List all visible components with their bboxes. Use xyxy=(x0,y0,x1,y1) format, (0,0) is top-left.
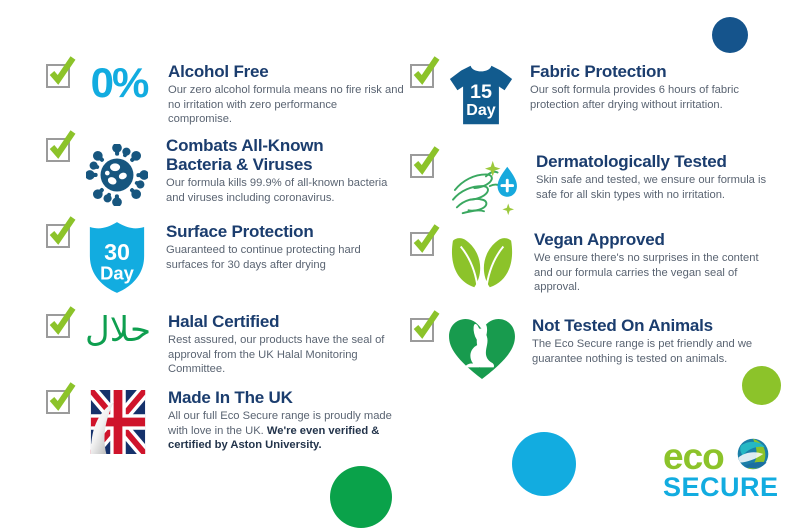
heart-rabbit-icon xyxy=(446,316,518,382)
feature-text: Combats All-Known Bacteria & Viruses Our… xyxy=(166,136,398,205)
feature-item-combats-bacteria-viruses: Combats All-Known Bacteria & Viruses Our… xyxy=(46,136,398,208)
checkbox-checked-icon[interactable] xyxy=(46,314,70,338)
feature-item-vegan-approved: Vegan Approved We ensure there's no surp… xyxy=(410,230,780,296)
uk-flag-icon xyxy=(82,388,154,456)
feature-description: Rest assured, our products have the seal… xyxy=(168,333,386,377)
svg-text:30: 30 xyxy=(104,239,130,265)
feature-title: Combats All-Known Bacteria & Viruses xyxy=(166,136,351,174)
feature-title: Halal Certified xyxy=(168,312,386,331)
checkbox-checked-icon[interactable] xyxy=(46,64,70,88)
zero-percent-icon: 0% xyxy=(84,60,154,106)
shield-30-day-icon: 30 Day xyxy=(82,220,152,296)
svg-text:15: 15 xyxy=(470,81,492,103)
feature-item-surface-protection: 30 Day Surface Protection Guaranteed to … xyxy=(46,222,398,296)
checkbox-checked-icon[interactable] xyxy=(410,154,434,178)
feature-item-halal-certified: حلال Halal Certified Rest assured, our p… xyxy=(46,312,386,377)
feature-title: Fabric Protection xyxy=(530,62,776,81)
svg-text:Day: Day xyxy=(466,101,495,119)
feature-text: Surface Protection Guaranteed to continu… xyxy=(166,222,398,272)
cyan-circle-bottom xyxy=(512,432,576,496)
feature-description: Our zero alcohol formula means no fire r… xyxy=(168,83,404,127)
feature-text: Vegan Approved We ensure there's no surp… xyxy=(534,230,780,295)
halal-arabic-icon: حلال xyxy=(82,308,154,352)
feature-description: All our full Eco Secure range is proudly… xyxy=(168,409,406,453)
feature-description: We ensure there's no surprises in the co… xyxy=(534,251,780,295)
eco-secure-logo: eco SECURE xyxy=(663,440,783,502)
leaves-icon xyxy=(446,230,520,296)
virus-icon xyxy=(82,142,152,208)
feature-item-dermatologically-tested: Dermatologically Tested Skin safe and te… xyxy=(410,152,782,220)
logo-text-secure: SECURE xyxy=(663,474,783,500)
checkbox-checked-icon[interactable] xyxy=(410,232,434,256)
feature-item-fabric-protection: 15 Day Fabric Protection Our soft formul… xyxy=(410,62,776,130)
feature-title: Alcohol Free xyxy=(168,62,404,81)
feature-description: Our soft formula provides 6 hours of fab… xyxy=(530,83,776,112)
washing-hands-droplet-icon xyxy=(446,156,522,220)
feature-title: Not Tested On Animals xyxy=(532,316,778,335)
feature-list-page: 0% Alcohol Free Our zero alcohol formula… xyxy=(0,0,800,528)
feature-item-made-in-the-uk: Made In The UK All our full Eco Secure r… xyxy=(46,388,406,456)
feature-description: Skin safe and tested, we ensure our form… xyxy=(536,173,782,202)
feature-title: Dermatologically Tested xyxy=(536,152,782,171)
feature-text: Alcohol Free Our zero alcohol formula me… xyxy=(168,62,404,127)
feature-title: Vegan Approved xyxy=(534,230,780,249)
tshirt-15-day-icon: 15 Day xyxy=(446,60,516,130)
feature-text: Made In The UK All our full Eco Secure r… xyxy=(168,388,406,453)
feature-text: Not Tested On Animals The Eco Secure ran… xyxy=(532,316,778,366)
checkbox-checked-icon[interactable] xyxy=(46,224,70,248)
feature-text: Halal Certified Rest assured, our produc… xyxy=(168,312,386,377)
green-circle-bottom xyxy=(330,466,392,528)
checkbox-checked-icon[interactable] xyxy=(46,390,70,414)
feature-title: Surface Protection xyxy=(166,222,398,241)
navy-circle-top-right xyxy=(712,17,748,53)
checkbox-checked-icon[interactable] xyxy=(410,318,434,342)
checkbox-checked-icon[interactable] xyxy=(410,64,434,88)
feature-title: Made In The UK xyxy=(168,388,406,407)
feature-item-not-tested-on-animals: Not Tested On Animals The Eco Secure ran… xyxy=(410,316,778,382)
svg-text:Day: Day xyxy=(100,262,135,283)
checkbox-checked-icon[interactable] xyxy=(46,138,70,162)
feature-text: Fabric Protection Our soft formula provi… xyxy=(530,62,776,112)
feature-item-alcohol-free: 0% Alcohol Free Our zero alcohol formula… xyxy=(46,62,404,127)
feature-text: Dermatologically Tested Skin safe and te… xyxy=(536,152,782,202)
feature-description: The Eco Secure range is pet friendly and… xyxy=(532,337,778,366)
feature-description: Guaranteed to continue protecting hard s… xyxy=(166,243,398,272)
feature-description: Our formula kills 99.9% of all-known bac… xyxy=(166,176,398,205)
globe-icon xyxy=(736,437,770,471)
